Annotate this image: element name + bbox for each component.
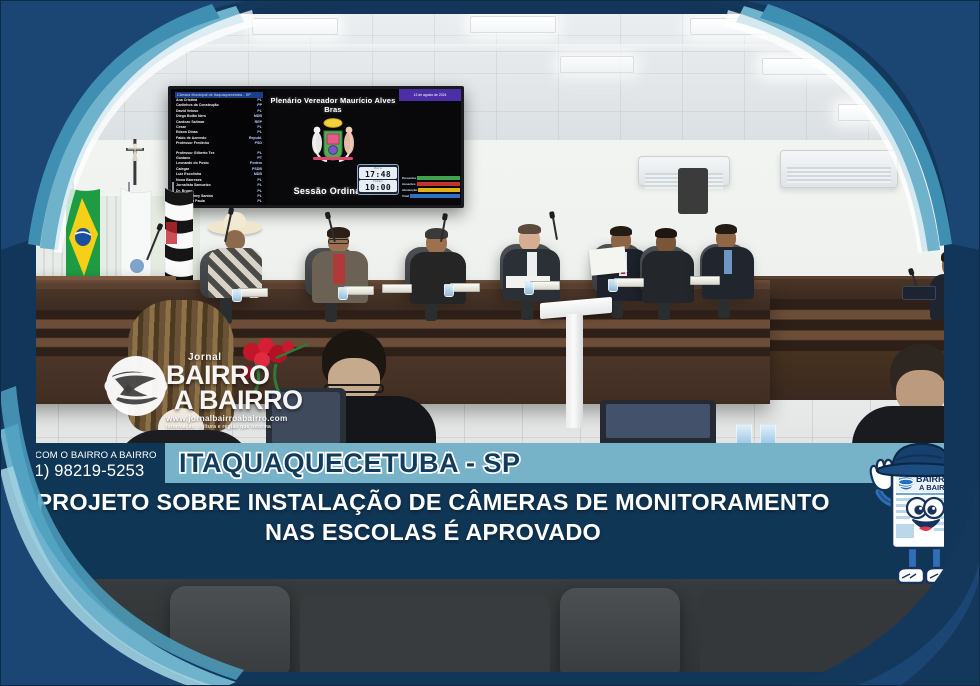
- session-photo: Câmara Municipal de Itaquaquecetuba - SP…: [0, 0, 980, 686]
- nameplate: [450, 283, 480, 292]
- nameplate: [690, 276, 720, 285]
- roster-party: PSD: [255, 141, 262, 146]
- coat-of-arms-icon: [302, 113, 364, 171]
- contact-phone[interactable]: (11) 98219-5253: [21, 462, 145, 481]
- clock-main-value: 17:48: [365, 170, 391, 179]
- clock-main: Hora 17:48: [359, 167, 397, 179]
- headline: PROJETO SOBRE INSTALAÇÃO DE CÂMERAS DE M…: [0, 487, 866, 547]
- video-wall-display: Câmara Municipal de Itaquaquecetuba - SP…: [168, 86, 464, 208]
- vote-label: Total: [402, 193, 409, 199]
- nameplate: [614, 278, 644, 287]
- ceiling-light: [70, 20, 142, 37]
- ceiling-light: [838, 104, 926, 121]
- nameplate: [382, 284, 412, 293]
- plenary-title: Plenário Vereador Maurício Alves Bras: [267, 96, 399, 114]
- nameplate: [344, 286, 374, 295]
- ceiling-beam: [0, 44, 980, 52]
- ceiling-light: [762, 58, 854, 75]
- vote-bar: [417, 182, 460, 186]
- flower-arrangement: [232, 338, 310, 396]
- vote-bar: [418, 188, 460, 192]
- council-bench: [0, 286, 770, 404]
- roster-name: Professor Fredinho: [176, 141, 209, 146]
- laptop: [902, 286, 936, 300]
- water-glass: [232, 289, 242, 302]
- session-clocks: Hora 17:48 Tempo 10:00: [357, 164, 399, 195]
- laptop-screen: [272, 392, 340, 444]
- flag-sao-paulo: [0, 184, 18, 294]
- city-label: ITAQUAQUECETUBA - SP: [179, 448, 521, 479]
- newspaper-mascot-icon: BAIRRO A BAIRRO: [866, 432, 980, 590]
- vote-bar: [410, 194, 460, 198]
- status-panel: 13 de agosto de 2024 Hora 17:48 Tempo 10…: [399, 89, 461, 205]
- water-glass: [608, 279, 618, 292]
- headline-line-1: PROJETO SOBRE INSTALAÇÃO DE CÂMERAS DE M…: [26, 487, 840, 517]
- chair: [300, 596, 550, 686]
- chair: [170, 586, 290, 676]
- wall-speaker: [678, 168, 708, 214]
- session-date: 13 de agosto de 2024: [399, 89, 461, 101]
- headline-line-2: NAS ESCOLAS É APROVADO: [26, 517, 840, 547]
- document-paper: [589, 246, 628, 276]
- news-card: Câmara Municipal de Itaquaquecetuba - SP…: [0, 0, 980, 686]
- vote-row: Total: [402, 193, 460, 199]
- chair: [700, 590, 930, 686]
- chair: [560, 588, 680, 678]
- contact-block: FALE COM O BAIRRO A BAIRRO (11) 98219-52…: [0, 445, 165, 485]
- ceiling-light: [560, 56, 634, 73]
- svg-text:A BAIRRO: A BAIRRO: [919, 483, 956, 492]
- air-conditioner: [780, 150, 898, 188]
- bottom-banner: FALE COM O BAIRRO A BAIRRO (11) 98219-52…: [0, 443, 980, 579]
- laptop-screen: [606, 404, 710, 438]
- water-glass: [444, 284, 454, 297]
- city-band: ITAQUAQUECETUBA - SP: [165, 443, 980, 483]
- vote-bar: [417, 176, 460, 180]
- roster-party: PL: [257, 199, 262, 204]
- ceiling-light: [690, 18, 774, 35]
- crucifix-icon: [124, 139, 146, 185]
- water-glass: [338, 287, 348, 300]
- ceiling-beam: [0, 0, 980, 13]
- clock-timer-value: 10:00: [365, 183, 391, 192]
- nameplate: [530, 281, 560, 290]
- ceiling-light: [470, 16, 556, 33]
- clock-timer: Tempo 10:00: [359, 180, 397, 192]
- nameplate: [238, 288, 268, 297]
- contact-label: FALE COM O BAIRRO A BAIRRO: [8, 450, 156, 461]
- water-glass: [944, 288, 954, 301]
- vote-tally-panel: PresentesAusentesAbstençãoTotal: [402, 175, 460, 199]
- water-glass: [524, 282, 534, 295]
- ceiling-light: [252, 18, 338, 35]
